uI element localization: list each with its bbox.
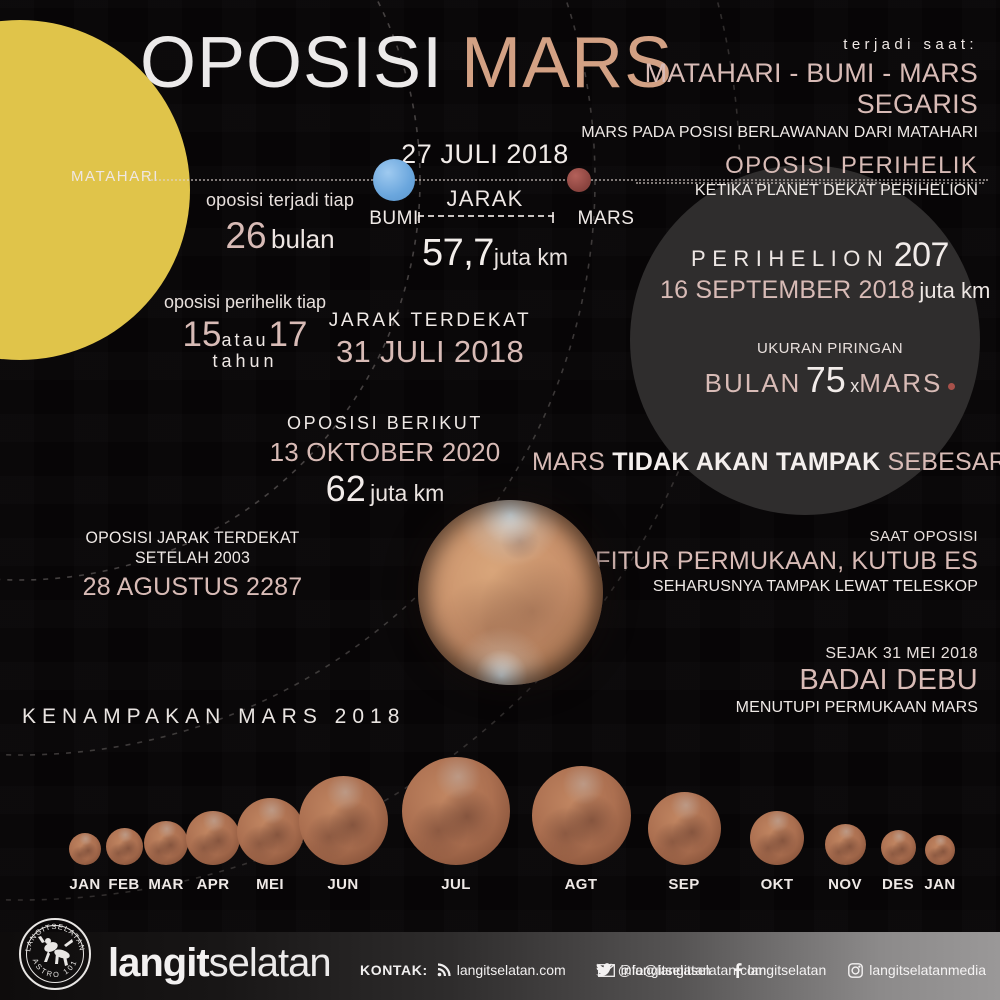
mars-disk	[750, 811, 804, 865]
title-part-1: OPOSISI	[140, 23, 443, 103]
instagram-icon	[848, 963, 863, 978]
distance-number: 57,7	[422, 232, 494, 274]
distance-caption: JARAK	[400, 186, 570, 212]
disk-size-mars-word: MARS	[859, 368, 942, 398]
mars-disk	[532, 766, 631, 865]
twitter-icon	[596, 963, 612, 977]
month-label: JAN	[924, 876, 955, 893]
appearance-section-title: KENAMPAKAN MARS 2018	[22, 705, 405, 729]
brand-wordmark: langitselatan	[108, 941, 331, 986]
closest-after-2003-date: 28 AGUSTUS 2287	[40, 573, 345, 602]
month-label: MAR	[148, 876, 183, 893]
mars-disk	[237, 798, 304, 865]
interval-perihelic-conjunction: atau	[221, 330, 268, 350]
mars-disk	[402, 757, 510, 865]
mars-planet-icon	[567, 168, 591, 192]
statement-pre: MARS	[532, 448, 612, 476]
month-label: DES	[882, 876, 914, 893]
mars-dot-icon	[948, 383, 955, 390]
twitter-handle: @langitselatan	[618, 962, 711, 978]
instagram-link[interactable]: langitselatanmedia	[848, 962, 986, 978]
month-label: APR	[197, 876, 230, 893]
interval-months-caption: oposisi terjadi tiap	[170, 190, 390, 211]
perihelion-label: PERIHELION	[691, 246, 889, 271]
website-url: langitselatan.com	[457, 962, 566, 978]
twitter-link[interactable]: @langitselatan	[596, 962, 711, 978]
closest-distance-block: JARAK TERDEKAT 31 JULI 2018	[300, 310, 560, 370]
interval-months-block: oposisi terjadi tiap 26 bulan	[170, 190, 390, 257]
month-label: FEB	[108, 876, 139, 893]
mars-disk	[69, 833, 101, 865]
month-label: AGT	[565, 876, 598, 893]
perihelic-header: OPOSISI PERIHELIK KETIKA PLANET DEKAT PE…	[558, 152, 978, 200]
surface-features-block: SAAT OPOSISI FITUR PERMUKAAN, KUTUB ES S…	[558, 528, 978, 596]
mars-disk	[881, 830, 916, 865]
facebook-icon	[733, 963, 742, 978]
next-opposition-distance-unit: juta km	[370, 480, 444, 506]
closest-distance-caption: JARAK TERDEKAT	[300, 310, 560, 332]
dust-storm-line-3: MENUTUPI PERMUKAAN MARS	[558, 699, 978, 717]
perihelion-distance-number: 207	[894, 236, 949, 274]
dust-storm-line-1: SEJAK 31 MEI 2018	[558, 645, 978, 663]
brand-wordmark-bold: langit	[108, 941, 209, 985]
perihelion-date: 16 SEPTEMBER 2018	[660, 276, 915, 304]
mars-disk	[186, 811, 240, 865]
mars-disk	[825, 824, 866, 865]
month-label: OKT	[761, 876, 794, 893]
closest-distance-date: 31 JULI 2018	[300, 334, 560, 370]
disk-size-block: UKURAN PIRINGAN BULAN 75 xMARS	[680, 340, 980, 401]
top-right-block: terjadi saat: MATAHARI - BUMI - MARS SEG…	[558, 36, 978, 142]
mars-globe-photo	[418, 500, 603, 685]
disk-size-times-symbol: x	[850, 376, 859, 396]
distance-unit: juta km	[494, 244, 568, 270]
interval-months-unit: bulan	[271, 224, 335, 254]
infographic-canvas: MATAHARI OPOSISIMARS terjadi saat: MATAH…	[0, 0, 1000, 1000]
month-label: MEI	[256, 876, 284, 893]
statement-bold: TIDAK AKAN TAMPAK	[612, 448, 880, 476]
distance-value-block: 57,7juta km	[380, 232, 610, 275]
perihelic-title: OPOSISI PERIHELIK	[558, 152, 978, 180]
social-row: @langitselatan langitselatan langitselat…	[596, 962, 986, 978]
distance-measure-bar	[418, 215, 554, 217]
rss-icon	[437, 963, 451, 977]
interval-perihelic-value-1: 15	[183, 315, 222, 354]
contact-label: KONTAK:	[360, 962, 428, 978]
closest-after-2003-block: OPOSISI JARAK TERDEKAT SETELAH 2003 28 A…	[40, 528, 345, 602]
mars-disk	[299, 776, 388, 865]
langitselatan-logo-icon: LANGITSELATAN · ASTRO 101 ·	[18, 917, 92, 991]
disk-size-caption: UKURAN PIRINGAN	[680, 340, 980, 357]
mars-not-as-big-statement: MARS TIDAK AKAN TAMPAK SEBESAR BULAN	[532, 448, 972, 477]
month-label: NOV	[828, 876, 862, 893]
next-opposition-distance: 62	[326, 468, 366, 509]
brand-wordmark-light: selatan	[209, 941, 331, 985]
surface-line-2: FITUR PERMUKAAN, KUTUB ES	[558, 547, 978, 576]
month-label: JUL	[441, 876, 471, 893]
next-opposition-date: 13 OKTOBER 2020	[265, 437, 505, 468]
mars-disk	[144, 821, 188, 865]
month-label: JAN	[69, 876, 100, 893]
month-label-row: JANFEBMARAPRMEIJUNJULAGTSEPOKTNOVDESJAN	[0, 876, 1000, 900]
footer-bar: LANGITSELATAN · ASTRO 101 · langitselata…	[0, 932, 1000, 1000]
instagram-handle: langitselatanmedia	[869, 962, 986, 978]
website-link[interactable]: langitselatan.com	[437, 962, 566, 978]
perihelic-subtitle: KETIKA PLANET DEKAT PERIHELION	[558, 182, 978, 200]
facebook-page: langitselatan	[748, 962, 827, 978]
next-opposition-block: OPOSISI BERIKUT 13 OKTOBER 2020 62 juta …	[265, 413, 505, 510]
mars-disk	[106, 828, 143, 865]
perihelion-distance-unit: juta km	[919, 278, 990, 303]
dust-storm-line-2: BADAI DEBU	[558, 664, 978, 697]
perihelion-detail: PERIHELION 207 16 SEPTEMBER 2018 juta km	[660, 236, 980, 305]
terjadi-saat-kicker: terjadi saat:	[558, 36, 978, 53]
closest-after-2003-caption: OPOSISI JARAK TERDEKAT SETELAH 2003	[49, 528, 336, 568]
mars-disk	[925, 835, 955, 865]
surface-line-3: SEHARUSNYA TAMPAK LEWAT TELESKOP	[558, 578, 978, 596]
statement-post: SEBESAR BULAN	[880, 448, 1000, 476]
surface-line-1: SAAT OPOSISI	[558, 528, 978, 545]
mars-disk	[648, 792, 721, 865]
sun-label: MATAHARI	[40, 168, 190, 185]
mars-size-chart	[0, 755, 1000, 865]
month-label: JUN	[327, 876, 358, 893]
facebook-link[interactable]: langitselatan	[733, 962, 827, 978]
month-label: SEP	[668, 876, 699, 893]
alignment-headline: MATAHARI - BUMI - MARS SEGARIS	[558, 58, 978, 120]
disk-size-moon-word: BULAN	[705, 368, 802, 398]
interval-months-value: 26	[225, 215, 266, 256]
next-opposition-caption: OPOSISI BERIKUT	[265, 413, 505, 434]
dust-storm-block: SEJAK 31 MEI 2018 BADAI DEBU MENUTUPI PE…	[558, 645, 978, 717]
alignment-subline: MARS PADA POSISI BERLAWANAN DARI MATAHAR…	[558, 124, 978, 142]
disk-size-multiplier: 75	[806, 359, 846, 400]
